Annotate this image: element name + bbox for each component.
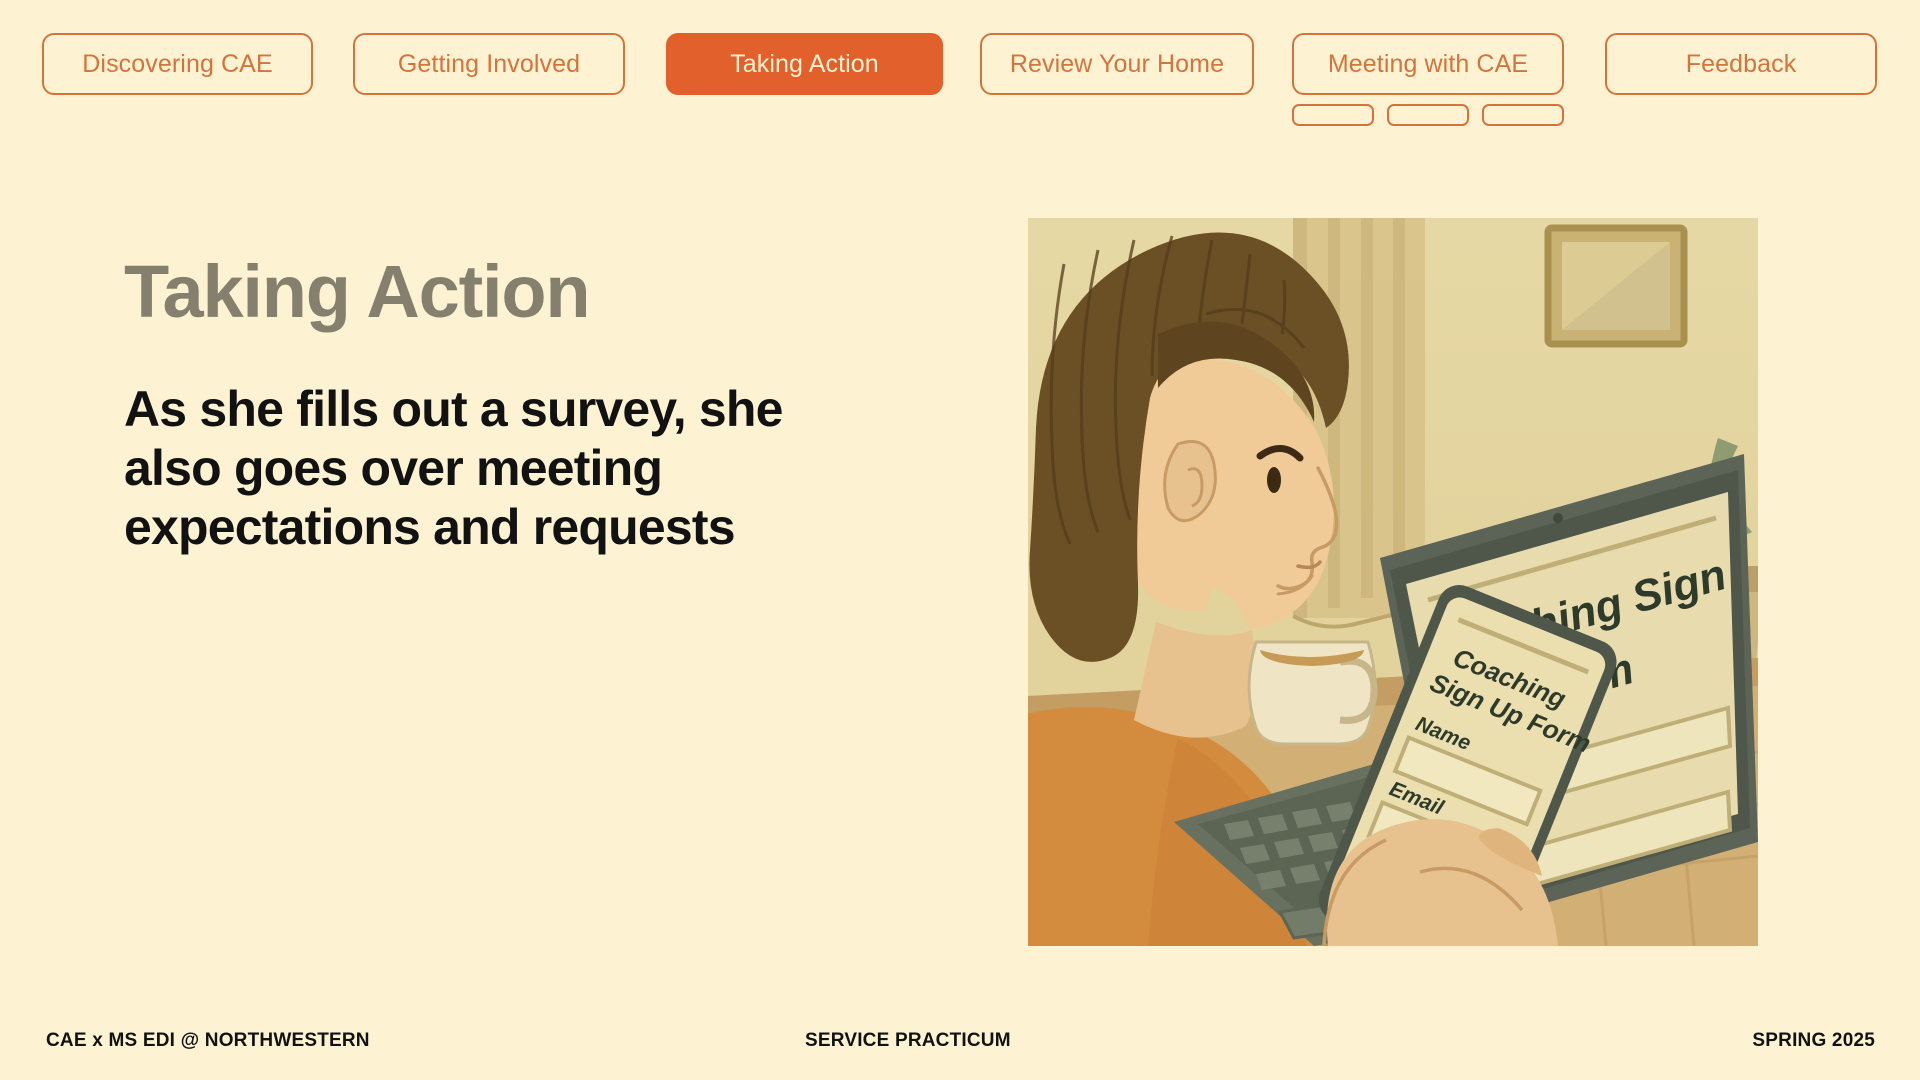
subnav-chip-3[interactable] — [1482, 104, 1564, 126]
nav-item-getting-involved[interactable]: Getting Involved — [353, 33, 625, 95]
body-paragraph: As she fills out a survey, she also goes… — [124, 380, 824, 557]
subnav-chip-2[interactable] — [1387, 104, 1469, 126]
slide-footer: CAE x MS EDI @ NORTHWESTERN SERVICE PRAC… — [0, 1030, 1920, 1062]
top-navigation: Discovering CAE Getting Involved Taking … — [0, 33, 1920, 95]
nav-item-review-your-home[interactable]: Review Your Home — [980, 33, 1254, 95]
page-title: Taking Action — [124, 255, 589, 329]
footer-right-text: SPRING 2025 — [1752, 1030, 1875, 1052]
footer-center-text: SERVICE PRACTICUM — [805, 1030, 1011, 1052]
nav-item-meeting-with-cae[interactable]: Meeting with CAE — [1292, 33, 1564, 95]
nav-item-discovering-cae[interactable]: Discovering CAE — [42, 33, 313, 95]
nav-item-feedback[interactable]: Feedback — [1605, 33, 1877, 95]
subnav-chip-1[interactable] — [1292, 104, 1374, 126]
sub-navigation — [0, 104, 1920, 126]
footer-left-text: CAE x MS EDI @ NORTHWESTERN — [46, 1030, 370, 1052]
nav-item-taking-action[interactable]: Taking Action — [666, 33, 943, 95]
illustration-woman-signup-form: Coaching Sign Up Form Name Email — [1028, 218, 1758, 946]
slide-root: Discovering CAE Getting Involved Taking … — [0, 0, 1920, 1080]
